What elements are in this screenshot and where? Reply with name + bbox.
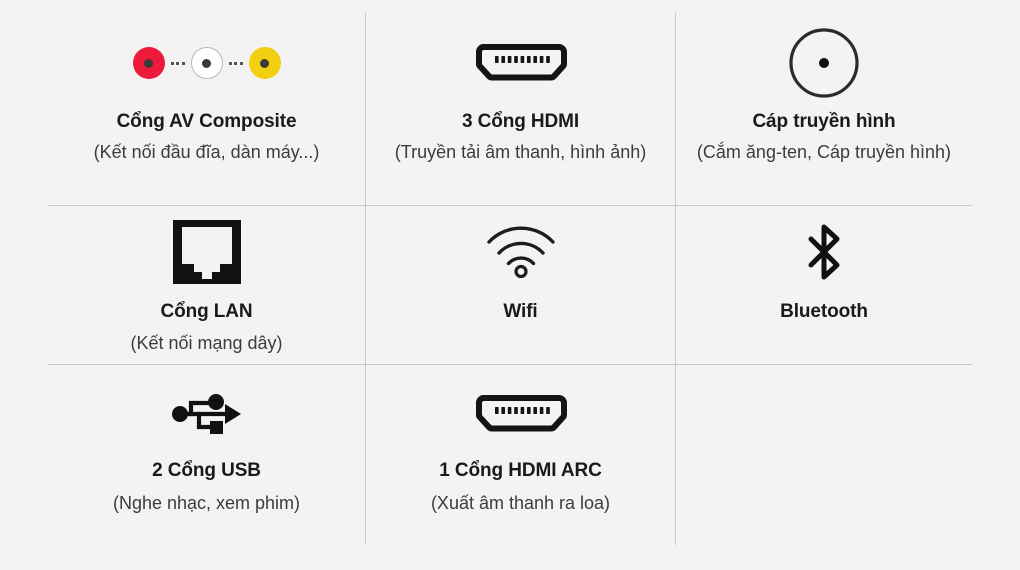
usb-icon xyxy=(48,377,365,451)
coaxial-antenna-icon xyxy=(676,20,972,106)
hdmi-arc-port-icon xyxy=(366,377,675,451)
cell-bluetooth: Bluetooth xyxy=(676,206,972,364)
cell-subtitle: (Kết nối mạng dây) xyxy=(130,330,282,356)
wifi-icon xyxy=(366,214,675,290)
bluetooth-icon xyxy=(676,214,972,290)
cell-title: 2 Cổng USB xyxy=(152,459,261,484)
cell-empty xyxy=(676,365,972,545)
cell-subtitle: (Truyền tải âm thanh, hình ảnh) xyxy=(395,139,646,165)
cell-subtitle: (Nghe nhạc, xem phim) xyxy=(113,490,300,516)
cell-title: 1 Cổng HDMI ARC xyxy=(439,459,601,484)
rca-connector-white xyxy=(191,47,223,79)
rca-connector-yellow xyxy=(249,47,281,79)
cell-title: Cổng LAN xyxy=(160,300,252,325)
cell-coaxial-cable: Cáp truyền hình (Cắm ăng-ten, Cáp truyền… xyxy=(676,12,972,205)
cell-title: Cáp truyền hình xyxy=(752,110,895,135)
cell-usb: 2 Cổng USB (Nghe nhạc, xem phim) xyxy=(48,365,365,545)
av-composite-icon xyxy=(48,20,365,106)
cell-subtitle: (Kết nối đầu đĩa, dàn máy...) xyxy=(94,139,320,165)
cell-wifi: Wifi xyxy=(366,206,675,364)
cell-subtitle: (Xuất âm thanh ra loa) xyxy=(431,490,610,516)
cell-title: Wifi xyxy=(503,300,537,325)
cell-hdmi-arc: 1 Cổng HDMI ARC (Xuất âm thanh ra loa) xyxy=(366,365,675,545)
cell-title: 3 Cổng HDMI xyxy=(462,110,579,135)
rca-dots-left xyxy=(171,62,185,65)
lan-port-icon xyxy=(48,214,365,290)
rca-connector-red xyxy=(133,47,165,79)
cell-lan-port: Cổng LAN (Kết nối mạng dây) xyxy=(48,206,365,364)
connectivity-feature-grid: Cổng AV Composite (Kết nối đầu đĩa, dàn … xyxy=(0,0,1020,570)
cell-hdmi: 3 Cổng HDMI (Truyền tải âm thanh, hình ả… xyxy=(366,12,675,205)
cell-subtitle: (Cắm ăng-ten, Cáp truyền hình) xyxy=(697,139,951,165)
cell-title: Bluetooth xyxy=(780,300,868,325)
hdmi-port-icon xyxy=(366,20,675,106)
rca-dots-right xyxy=(229,62,243,65)
cell-title: Cổng AV Composite xyxy=(117,110,297,135)
cell-av-composite: Cổng AV Composite (Kết nối đầu đĩa, dàn … xyxy=(48,12,365,205)
